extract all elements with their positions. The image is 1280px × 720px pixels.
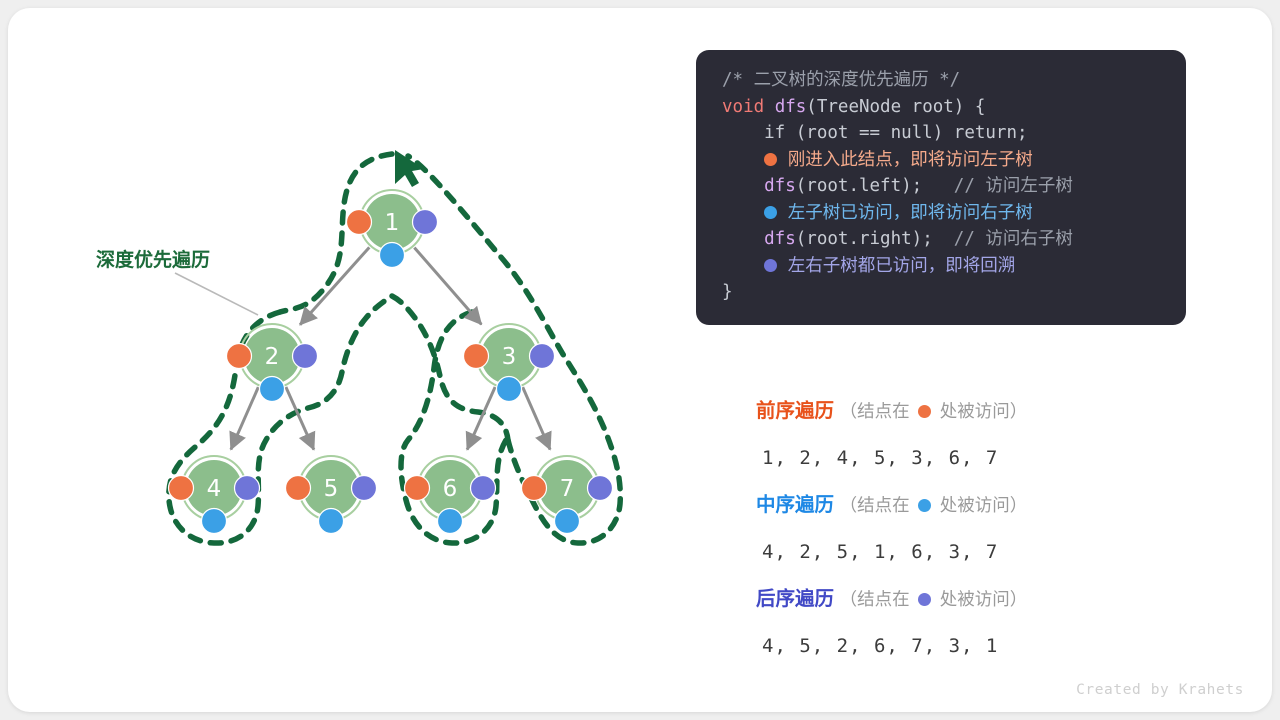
postorder-marker-dot <box>471 476 496 501</box>
inorder-marker-dot <box>202 509 227 534</box>
main-card: 深度优先遍历 1234567 /* 二叉树的深度优先遍历 */void dfs(… <box>8 8 1272 712</box>
tree-svg: 深度优先遍历 1234567 <box>8 8 668 712</box>
traversal-note-close: 处被访问） <box>934 402 1027 422</box>
preorder-marker-dot <box>169 476 194 501</box>
code-line: dfs(root.left); // 访问左子树 <box>722 173 1164 200</box>
node-value: 7 <box>560 476 575 502</box>
inorder-marker-dot <box>555 509 580 534</box>
tree-node[interactable]: 3 <box>464 324 555 402</box>
code-line: 左子树已访问，即将访问右子树 <box>722 200 1164 227</box>
code-comment-text: 左右子树都已访问，即将回溯 <box>777 256 1015 276</box>
inorder-marker-dot <box>260 377 285 402</box>
code-comment-text: 刚进入此结点，即将访问左子树 <box>777 150 1033 170</box>
traversal-title: 后序遍历 <box>756 587 834 610</box>
code-token: // 访问右子树 <box>933 229 1073 249</box>
preorder-marker-dot <box>522 476 547 501</box>
annotation-leader-line <box>175 273 258 315</box>
code-token: (root.left); <box>796 176 922 196</box>
code-token: if (root == null) return; <box>722 123 1028 143</box>
traversal-note-close: 处被访问） <box>934 496 1027 516</box>
code-token: (TreeNode root) { <box>806 97 985 117</box>
node-value: 3 <box>502 344 517 370</box>
code-line: dfs(root.right); // 访问右子树 <box>722 226 1164 253</box>
preorder-marker-dot <box>405 476 430 501</box>
postorder-marker-dot <box>530 344 555 369</box>
code-line: } <box>722 279 1164 306</box>
node-value: 4 <box>207 476 222 502</box>
blue-marker-icon <box>764 206 777 219</box>
purple-marker-icon <box>918 593 931 606</box>
traversal-header: 中序遍历 （结点在 处被访问） <box>756 486 1196 524</box>
node-value: 6 <box>443 476 458 502</box>
orange-marker-icon <box>918 405 931 418</box>
traversal-note-open: （结点在 <box>834 590 915 610</box>
code-line: 刚进入此结点，即将访问左子树 <box>722 147 1164 174</box>
tree-edge <box>300 247 369 324</box>
orange-marker-icon <box>764 153 777 166</box>
code-indent <box>722 256 764 276</box>
code-line: 左右子树都已访问，即将回溯 <box>722 253 1164 280</box>
code-line: if (root == null) return; <box>722 120 1164 147</box>
preorder-marker-dot <box>227 344 252 369</box>
traversal-note-close: 处被访问） <box>934 590 1027 610</box>
preorder-marker-dot <box>347 210 372 235</box>
traversal-title: 中序遍历 <box>756 493 834 516</box>
code-indent <box>722 150 764 170</box>
code-token: } <box>722 282 733 302</box>
code-token: dfs <box>775 97 807 117</box>
code-indent <box>722 203 764 223</box>
tree-edge <box>414 248 481 325</box>
code-token: /* 二叉树的深度优先遍历 */ <box>722 70 960 90</box>
tree-edge <box>231 387 258 449</box>
purple-marker-icon <box>764 259 777 272</box>
node-value: 5 <box>324 476 339 502</box>
traversal-sequence: 4, 2, 5, 1, 6, 3, 7 <box>756 524 1196 580</box>
postorder-marker-dot <box>588 476 613 501</box>
preorder-marker-dot <box>286 476 311 501</box>
postorder-marker-dot <box>413 210 438 235</box>
traversal-title: 前序遍历 <box>756 399 834 422</box>
code-token: dfs <box>722 176 796 196</box>
traversal-header: 前序遍历 （结点在 处被访问） <box>756 392 1196 430</box>
tree-node[interactable]: 5 <box>286 456 377 534</box>
traversal-results-panel: 前序遍历 （结点在 处被访问）1, 2, 4, 5, 3, 6, 7中序遍历 （… <box>756 392 1196 674</box>
code-token: void <box>722 97 775 117</box>
inorder-marker-dot <box>497 377 522 402</box>
code-token: // 访问左子树 <box>922 176 1073 196</box>
preorder-marker-dot <box>464 344 489 369</box>
tree-node[interactable]: 4 <box>169 456 260 534</box>
postorder-marker-dot <box>352 476 377 501</box>
code-token: dfs <box>722 229 796 249</box>
traversal-header: 后序遍历 （结点在 处被访问） <box>756 580 1196 618</box>
inorder-marker-dot <box>380 243 405 268</box>
traversal-note-open: （结点在 <box>834 402 915 422</box>
code-line: /* 二叉树的深度优先遍历 */ <box>722 67 1164 94</box>
code-token: (root.right); <box>796 229 933 249</box>
dfs-annotation-label: 深度优先遍历 <box>96 248 210 271</box>
tree-edge <box>523 387 550 449</box>
tree-nodes: 1234567 <box>169 190 613 534</box>
traversal-sequence: 1, 2, 4, 5, 3, 6, 7 <box>756 430 1196 486</box>
postorder-marker-dot <box>235 476 260 501</box>
node-value: 1 <box>385 210 400 236</box>
inorder-marker-dot <box>319 509 344 534</box>
tree-node[interactable]: 2 <box>227 324 318 402</box>
postorder-marker-dot <box>293 344 318 369</box>
code-comment-text: 左子树已访问，即将访问右子树 <box>777 203 1033 223</box>
node-value: 2 <box>265 344 280 370</box>
watermark-credit: Created by Krahets <box>1076 682 1244 698</box>
traversal-note-open: （结点在 <box>834 496 915 516</box>
code-snippet-panel: /* 二叉树的深度优先遍历 */void dfs(TreeNode root) … <box>696 50 1186 325</box>
traversal-sequence: 4, 5, 2, 6, 7, 3, 1 <box>756 618 1196 674</box>
tree-node[interactable]: 7 <box>522 456 613 534</box>
code-line: void dfs(TreeNode root) { <box>722 94 1164 121</box>
binary-tree-diagram: 深度优先遍历 1234567 <box>8 8 668 712</box>
blue-marker-icon <box>918 499 931 512</box>
inorder-marker-dot <box>438 509 463 534</box>
